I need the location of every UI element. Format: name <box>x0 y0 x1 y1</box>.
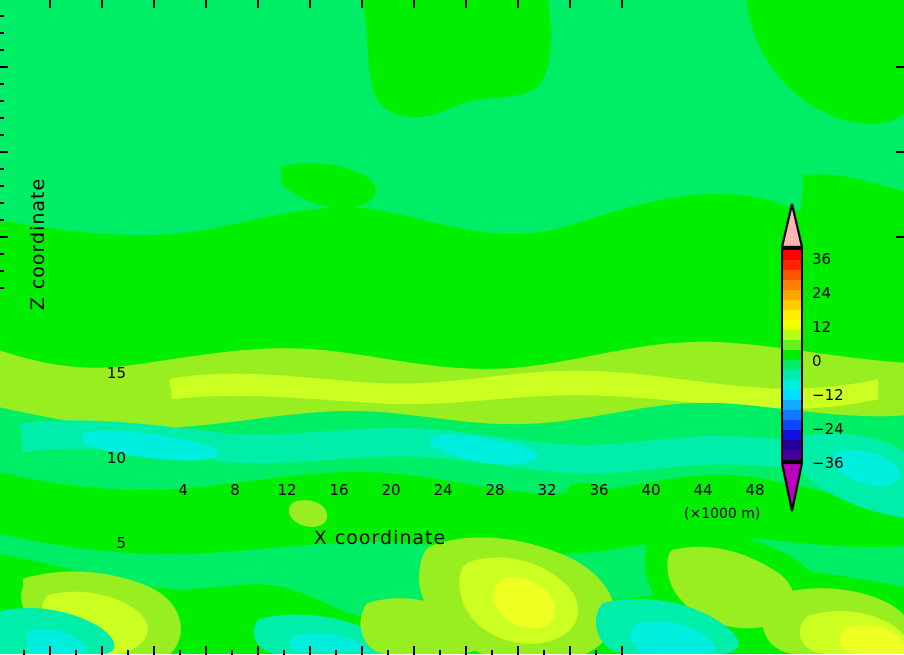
y-tick-minor <box>0 117 4 119</box>
x-tick-label: 4 <box>163 481 203 499</box>
y-tick-minor <box>0 15 4 17</box>
y-tick-label-group: 5 10 15 <box>58 153 126 474</box>
x-tick-major-top <box>413 0 415 8</box>
colorbar-tick-label: 0 <box>812 352 822 370</box>
x-tick-label: 28 <box>475 481 515 499</box>
y-tick-minor <box>0 253 4 255</box>
x-tick-label: 24 <box>423 481 463 499</box>
colorbar-tick-label: −24 <box>812 420 844 438</box>
colorbar-band <box>783 310 801 320</box>
colorbar-band <box>783 280 801 290</box>
colorbar-band <box>783 360 801 370</box>
colorbar-band <box>783 380 801 390</box>
x-tick-label: 8 <box>215 481 255 499</box>
y-tick-minor <box>0 270 4 272</box>
y-tick-label: 15 <box>107 364 126 382</box>
y-tick-minor <box>0 202 4 204</box>
y-tick-minor <box>0 100 4 102</box>
x-tick-label: 20 <box>371 481 411 499</box>
colorbar-band <box>783 430 801 440</box>
y-tick-minor <box>0 49 4 51</box>
colorbar-band <box>783 420 801 430</box>
x-tick-label: 40 <box>631 481 671 499</box>
y-tick-minor <box>0 134 4 136</box>
x-tick-major-top <box>361 0 363 8</box>
x-tick-major-top <box>153 0 155 8</box>
colorbar-over-cap <box>781 203 803 248</box>
colorbar-band <box>783 260 801 270</box>
x-tick-major-top <box>569 0 571 8</box>
x-tick-major-top <box>257 0 259 8</box>
colorbar-tick-label: −12 <box>812 386 844 404</box>
x-tick-major-top <box>465 0 467 8</box>
y-tick-minor <box>0 168 4 170</box>
colorbar[interactable] <box>781 248 803 462</box>
colorbar-tick-label: 36 <box>812 250 831 268</box>
y-tick-minor <box>0 287 4 289</box>
y-tick-major <box>0 66 8 68</box>
x-tick-major-top <box>205 0 207 8</box>
colorbar-band <box>783 340 801 350</box>
x-tick-label: 48 <box>735 481 775 499</box>
colorbar-band <box>783 390 801 400</box>
colorbar-band <box>783 320 801 330</box>
x-axis-title: X coordinate <box>0 527 760 549</box>
colorbar-band <box>783 370 801 380</box>
x-tick-label: 36 <box>579 481 619 499</box>
x-tick-label: 32 <box>527 481 567 499</box>
x-tick-label: 16 <box>319 481 359 499</box>
y-tick-minor <box>0 83 4 85</box>
colorbar-under-cap <box>781 462 803 512</box>
x-tick-major-top <box>101 0 103 8</box>
y-tick-major <box>0 236 8 238</box>
y-tick-major <box>0 151 8 153</box>
y-tick-label: 10 <box>107 449 126 467</box>
colorbar-tick-label: 12 <box>812 318 831 336</box>
colorbar-band <box>783 270 801 280</box>
colorbar-band <box>783 440 801 450</box>
colorbar-band <box>783 290 801 300</box>
colorbar-band <box>783 330 801 340</box>
colorbar-tick-label: −36 <box>812 454 844 472</box>
colorbar-band <box>783 300 801 310</box>
y-tick-minor <box>0 185 4 187</box>
colorbar-band <box>783 250 801 260</box>
x-axis-unit-label: (×1000 m) <box>684 506 760 522</box>
x-tick-major-top <box>517 0 519 8</box>
colorbar-band <box>783 450 801 460</box>
y-tick-minor <box>0 219 4 221</box>
x-tick-label: 44 <box>683 481 723 499</box>
colorbar-band <box>783 410 801 420</box>
x-tick-major-top <box>49 0 51 8</box>
y-axis-title: Z coordinate <box>27 144 49 344</box>
y-tick-minor <box>0 32 4 34</box>
colorbar-band <box>783 400 801 410</box>
colorbar-band <box>783 350 801 360</box>
colorbar-tick-label: 24 <box>812 284 831 302</box>
x-tick-major-top <box>621 0 623 8</box>
x-tick-label: 12 <box>267 481 307 499</box>
x-tick-major-top <box>309 0 311 8</box>
